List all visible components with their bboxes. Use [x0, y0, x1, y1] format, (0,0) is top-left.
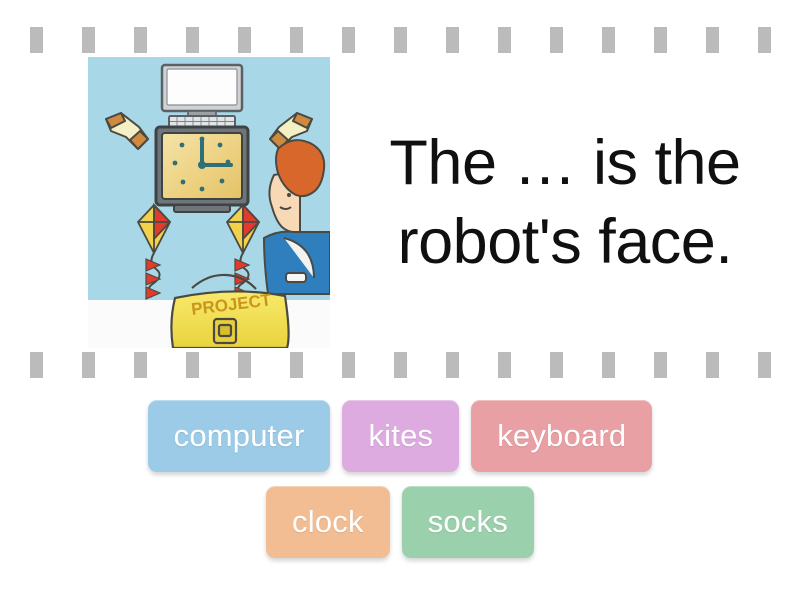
- answer-socks[interactable]: socks: [402, 486, 534, 558]
- dash-mark: [394, 27, 407, 53]
- dash-mark: [550, 352, 563, 378]
- dash-mark: [186, 27, 199, 53]
- dash-mark: [706, 352, 719, 378]
- dash-mark: [602, 27, 615, 53]
- dash-mark: [82, 352, 95, 378]
- dash-mark: [82, 27, 95, 53]
- dash-mark: [706, 27, 719, 53]
- dash-mark: [342, 27, 355, 53]
- quiz-stage: PROJECT The … is the robot's face. compu…: [0, 0, 800, 600]
- dash-mark: [238, 352, 251, 378]
- dash-mark: [446, 27, 459, 53]
- dash-mark: [134, 27, 147, 53]
- dash-mark: [550, 27, 563, 53]
- dash-mark: [342, 352, 355, 378]
- dash-mark: [446, 352, 459, 378]
- dash-mark: [186, 352, 199, 378]
- dash-mark: [134, 352, 147, 378]
- dash-mark: [498, 352, 511, 378]
- dashed-separator-top: [0, 27, 800, 53]
- answer-computer[interactable]: computer: [148, 400, 331, 472]
- question-text: The … is the robot's face.: [360, 53, 770, 352]
- dash-mark: [758, 352, 771, 378]
- dash-mark: [30, 27, 43, 53]
- dash-mark: [654, 352, 667, 378]
- dash-mark: [498, 27, 511, 53]
- dash-mark: [30, 352, 43, 378]
- dashed-separator-middle: [0, 352, 800, 378]
- answer-keyboard[interactable]: keyboard: [471, 400, 652, 472]
- dash-mark: [290, 27, 303, 53]
- dash-mark: [758, 27, 771, 53]
- question-image: PROJECT: [88, 57, 330, 348]
- answer-options: computerkiteskeyboardclocksocks: [0, 400, 800, 558]
- dash-mark: [394, 352, 407, 378]
- answer-row: computerkiteskeyboard: [0, 400, 800, 472]
- dash-mark: [290, 352, 303, 378]
- robot-illustration-icon: PROJECT: [88, 57, 330, 348]
- answer-kites[interactable]: kites: [342, 400, 459, 472]
- answer-clock[interactable]: clock: [266, 486, 390, 558]
- answer-row: clocksocks: [0, 486, 800, 558]
- question-card: PROJECT The … is the robot's face.: [30, 53, 770, 352]
- dash-mark: [654, 27, 667, 53]
- dash-mark: [238, 27, 251, 53]
- dash-mark: [602, 352, 615, 378]
